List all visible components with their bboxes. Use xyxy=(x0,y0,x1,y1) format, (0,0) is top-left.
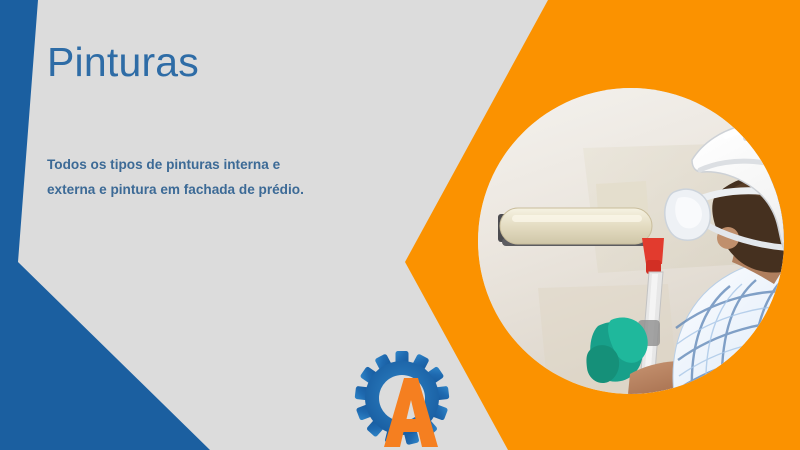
company-logo: A xyxy=(352,348,456,450)
slide-subtitle: Todos os tipos de pinturas interna e ext… xyxy=(47,152,377,202)
page-title: Pinturas xyxy=(47,40,199,85)
subtitle-line-2: externa e pintura em fachada de prédio. xyxy=(47,177,377,202)
roller-highlight xyxy=(512,215,642,222)
painter-photo-illustration xyxy=(478,88,784,394)
paint-roller xyxy=(500,208,652,244)
slide-canvas: Pinturas Todos os tipos de pinturas inte… xyxy=(0,0,800,450)
gear-icon: A xyxy=(352,348,456,450)
painter-photo xyxy=(478,88,784,394)
subtitle-line-1: Todos os tipos de pinturas interna e xyxy=(47,152,377,177)
green-glove-thumb xyxy=(586,345,619,383)
